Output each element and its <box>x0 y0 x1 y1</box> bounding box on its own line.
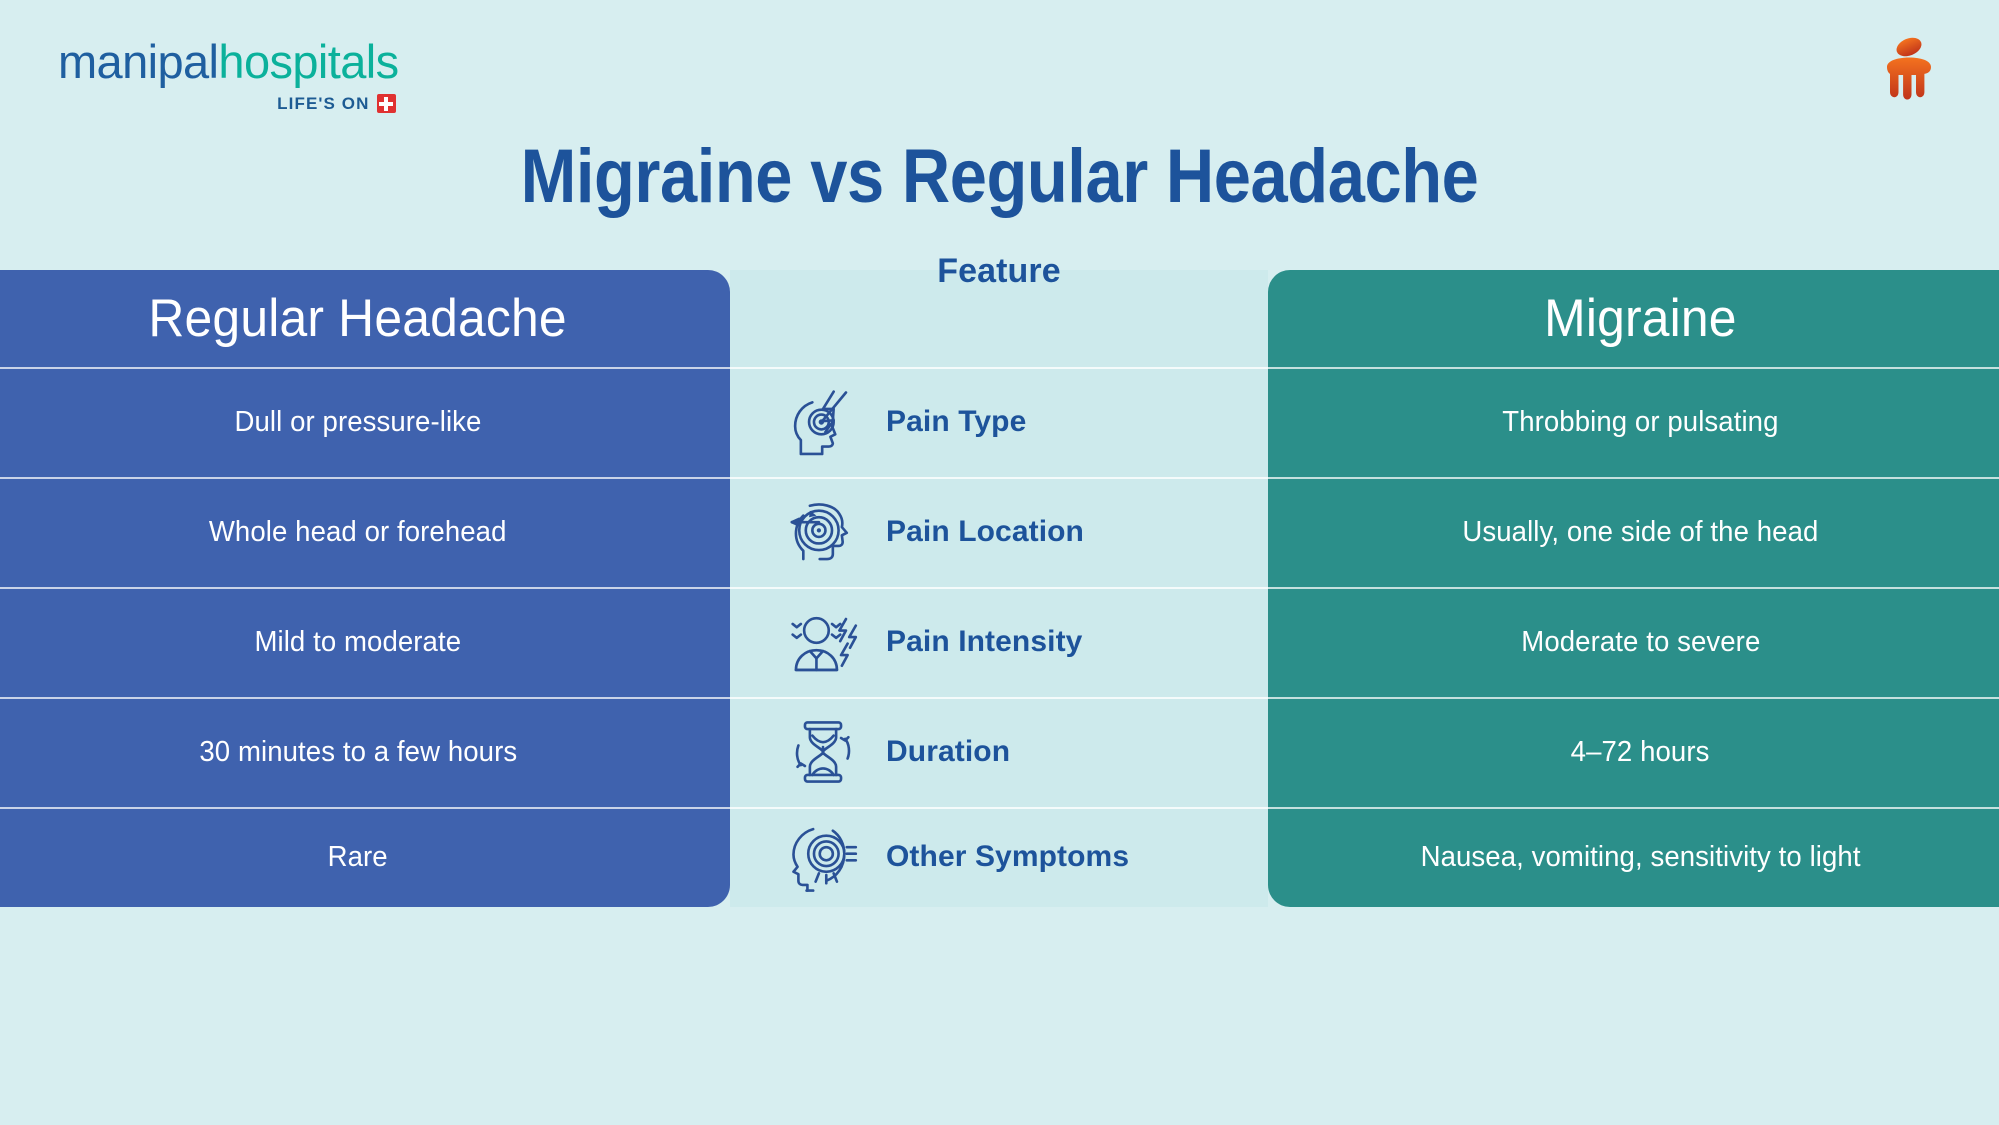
column-header-feature: Feature <box>730 270 1268 367</box>
head-radiating-waves-icon <box>782 816 864 898</box>
cell-value: 30 minutes to a few hours <box>199 736 517 769</box>
footer-background <box>0 1076 1999 1125</box>
table-row: Other Symptoms <box>730 807 1268 907</box>
head-bullseye-arrow-icon <box>782 491 864 573</box>
cell-value: Mild to moderate <box>255 626 462 659</box>
comparison-table: Regular Headache Dull or pressure-like W… <box>0 270 1999 1076</box>
feature-label: Other Symptoms <box>886 840 1129 874</box>
hourglass-rotate-icon <box>782 711 864 793</box>
manipal-flame-mark-icon <box>1875 36 1943 100</box>
logo-text-hospitals: hospitals <box>218 35 398 88</box>
table-row: Dull or pressure-like <box>0 367 730 477</box>
cell-value: Throbbing or pulsating <box>1502 406 1778 439</box>
table-row: Throbbing or pulsating <box>1268 367 1999 477</box>
page-title: Migraine vs Regular Headache <box>120 133 1879 220</box>
feature-label: Duration <box>886 735 1010 769</box>
cell-value: Nausea, vomiting, sensitivity to light <box>1420 841 1860 874</box>
feature-label: Pain Intensity <box>886 625 1082 659</box>
feature-label: Pain Type <box>886 405 1026 439</box>
medical-cross-icon <box>377 94 396 113</box>
column-header-regular-headache: Regular Headache <box>0 270 730 367</box>
table-row: Pain Location <box>730 477 1268 587</box>
cell-value: 4–72 hours <box>1571 736 1710 769</box>
table-row: Whole head or forehead <box>0 477 730 587</box>
table-row: Rare <box>0 807 730 907</box>
table-row: Mild to moderate <box>0 587 730 697</box>
page-header: manipalhospitals LIFE'S ON Migraine vs R… <box>0 0 1999 270</box>
column-feature: Feature Pain Type <box>730 270 1268 907</box>
head-lightning-target-icon <box>782 381 864 463</box>
column-header-label: Migraine <box>1544 288 1737 349</box>
column-header-label: Regular Headache <box>149 288 567 349</box>
cell-value: Rare <box>328 841 388 874</box>
column-header-label: Feature <box>937 252 1061 291</box>
cell-value: Moderate to severe <box>1521 626 1760 659</box>
person-zigzag-pain-icon <box>782 601 864 683</box>
table-row: Nausea, vomiting, sensitivity to light <box>1268 807 1999 907</box>
table-row: Usually, one side of the head <box>1268 477 1999 587</box>
table-row: Moderate to severe <box>1268 587 1999 697</box>
column-migraine: Migraine Throbbing or pulsating Usually,… <box>1268 270 1999 907</box>
cell-value: Usually, one side of the head <box>1462 516 1818 549</box>
cell-value: Whole head or forehead <box>209 516 507 549</box>
table-row: 30 minutes to a few hours <box>0 697 730 807</box>
column-header-migraine: Migraine <box>1268 270 1999 367</box>
logo-wordmark: manipalhospitals <box>58 38 399 85</box>
column-regular-headache: Regular Headache Dull or pressure-like W… <box>0 270 730 907</box>
cell-value: Dull or pressure-like <box>235 406 482 439</box>
logo-tagline-text: LIFE'S ON <box>277 95 369 112</box>
table-row: Pain Intensity <box>730 587 1268 697</box>
logo-text-manipal: manipal <box>58 35 218 88</box>
table-row: Duration <box>730 697 1268 807</box>
logo-tagline: LIFE'S ON <box>58 94 399 113</box>
table-row: 4–72 hours <box>1268 697 1999 807</box>
manipal-hospitals-logo: manipalhospitals LIFE'S ON <box>58 38 399 113</box>
table-row: Pain Type <box>730 367 1268 477</box>
feature-label: Pain Location <box>886 515 1084 549</box>
